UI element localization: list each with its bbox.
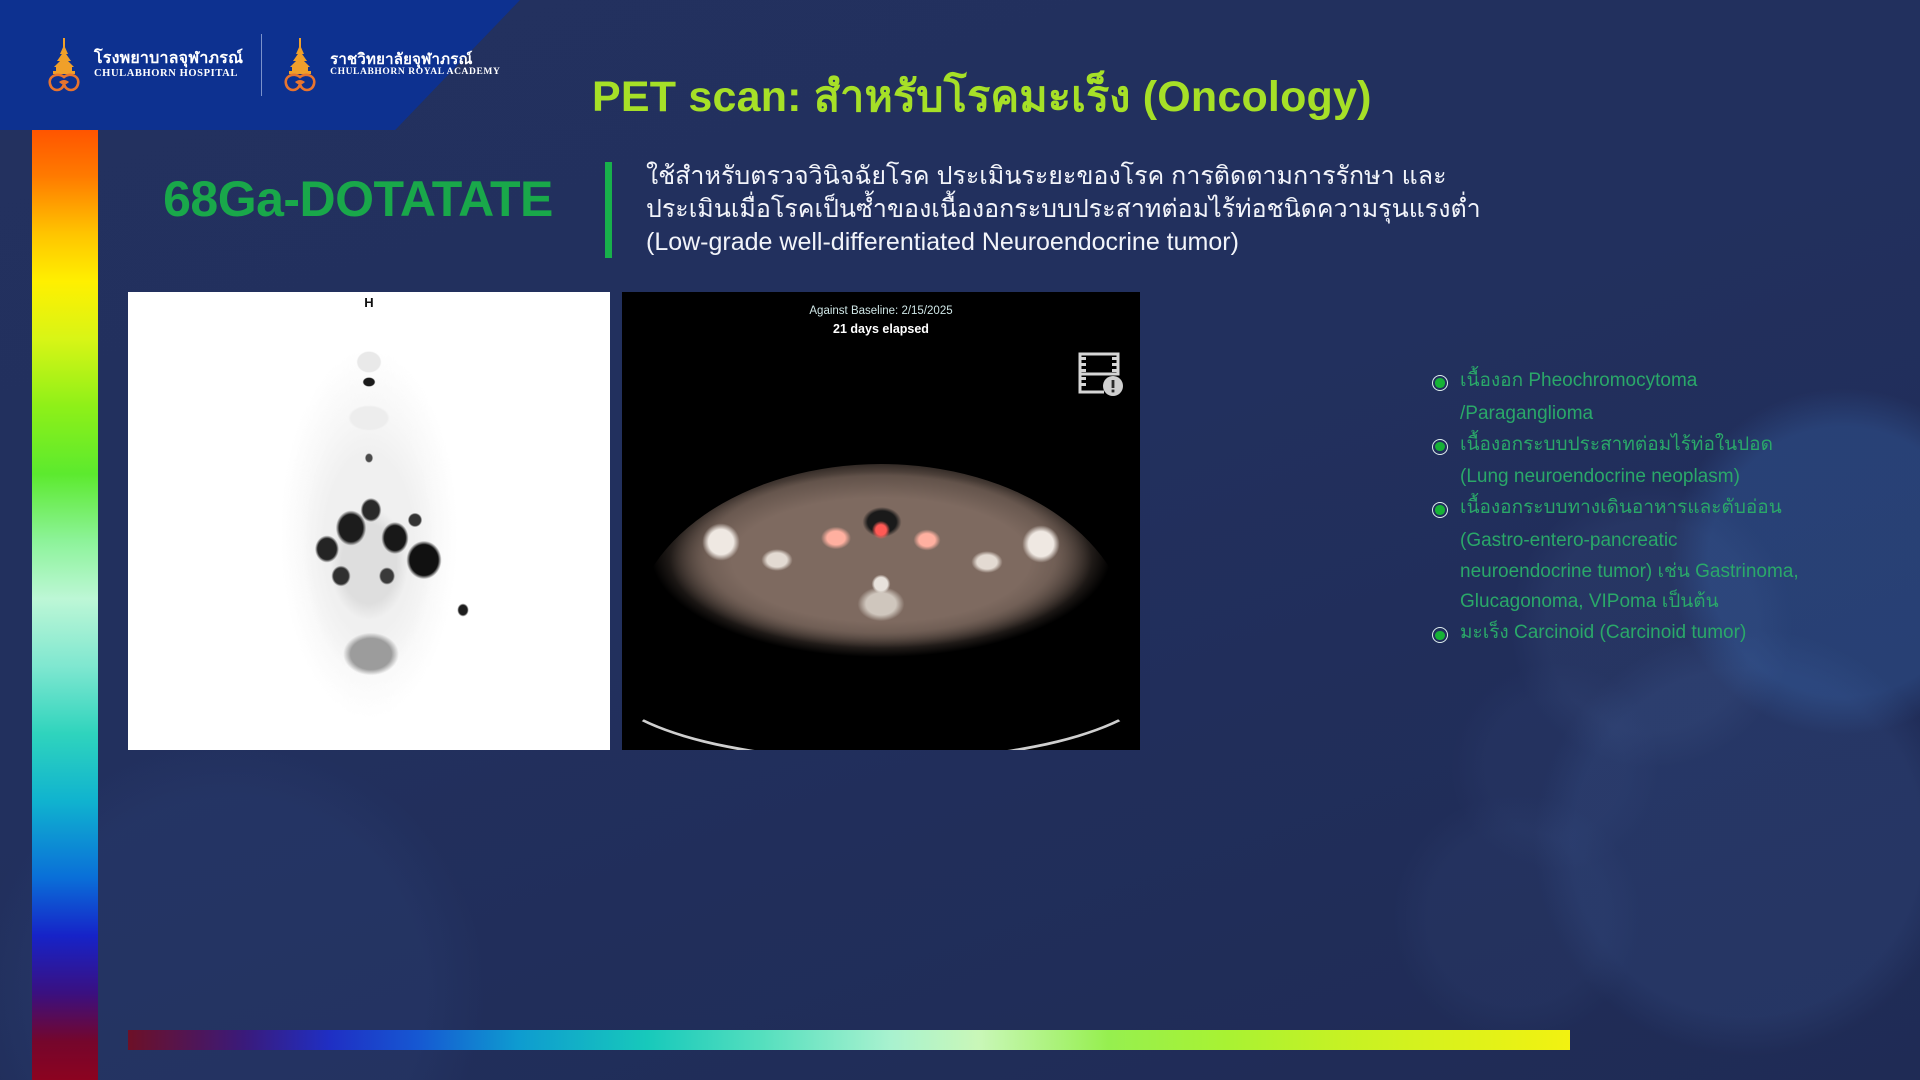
logo-academy-thai: ราชวิทยาลัยจุฬาภรณ์ (330, 52, 500, 68)
logo-academy-english: CHULABHORN ROYAL ACADEMY (330, 68, 500, 78)
list-item-label: เนื้องอก Pheochromocytoma (1460, 366, 1697, 397)
chulabhorn-emblem-icon (44, 36, 84, 94)
ct-baseline-label: Against Baseline: 2/15/2025 (622, 305, 1140, 317)
bullet-target-icon (1432, 627, 1448, 643)
list-item: มะเร็ง Carcinoid (Carcinoid tumor) (1432, 618, 1880, 649)
list-item-continuation: neuroendocrine tumor) เช่น Gastrinoma, (1432, 557, 1880, 588)
ct-header-text: Against Baseline: 2/15/2025 21 days elap… (622, 305, 1140, 336)
list-item-continuation: (Gastro-entero-pancreatic (1432, 526, 1880, 557)
green-vertical-rule (605, 162, 612, 258)
logo-hospital-text: โรงพยาบาลจุฬาภรณ์ CHULABHORN HOSPITAL (94, 51, 243, 79)
slide-canvas: โรงพยาบาลจุฬาภรณ์ CHULABHORN HOSPITAL (0, 0, 1920, 1080)
pet-mip-image: H (128, 292, 610, 750)
list-item: เนื้องอกระบบประสาทต่อมไร้ท่อในปอด (1432, 430, 1880, 461)
logo-chulabhorn-hospital: โรงพยาบาลจุฬาภรณ์ CHULABHORN HOSPITAL (44, 36, 243, 94)
logo-hospital-thai: โรงพยาบาลจุฬาภรณ์ (94, 51, 243, 68)
list-item-label: เนื้องอกระบบทางเดินอาหารและตับอ่อน (1460, 493, 1782, 524)
pet-body-silhouette (219, 314, 519, 744)
bullet-target-icon (1432, 439, 1448, 455)
description-line-1: ใช้สำหรับตรวจวินิจฉัยโรค ประเมินระยะของโ… (646, 160, 1526, 193)
left-spectrum-colorbar (32, 118, 98, 1080)
description-line-3: (Low-grade well-differentiated Neuroendo… (646, 226, 1526, 259)
header-logo-group: โรงพยาบาลจุฬาภรณ์ CHULABHORN HOSPITAL (0, 0, 520, 130)
list-item: เนื้องอก Pheochromocytoma (1432, 366, 1880, 397)
bullet-target-icon (1432, 375, 1448, 391)
tracer-name: 68Ga-DOTATATE (128, 170, 588, 228)
description-line-2: ประเมินเมื่อโรคเป็นซ้ำของเนื้องอกระบบประ… (646, 193, 1526, 226)
indications-list: เนื้องอก Pheochromocytoma /Paraganglioma… (1432, 366, 1880, 651)
list-item-label: มะเร็ง Carcinoid (Carcinoid tumor) (1460, 618, 1746, 649)
logo-academy-text: ราชวิทยาลัยจุฬาภรณ์ CHULABHORN ROYAL ACA… (330, 52, 500, 78)
list-item-continuation: (Lung neuroendocrine neoplasm) (1432, 462, 1880, 493)
bullet-target-icon (1432, 502, 1448, 518)
bottom-spectrum-colorbar (128, 1030, 1570, 1050)
list-item-continuation: /Paraganglioma (1432, 399, 1880, 430)
logo-chulabhorn-royal-academy: ราชวิทยาลัยจุฬาภรณ์ CHULABHORN ROYAL ACA… (280, 36, 500, 94)
pet-orientation-label: H (128, 295, 610, 310)
list-item: เนื้องอกระบบทางเดินอาหารและตับอ่อน (1432, 493, 1880, 524)
ct-elapsed-label: 21 days elapsed (622, 322, 1140, 336)
ct-fused-axial-image: Against Baseline: 2/15/2025 21 days elap… (622, 292, 1140, 750)
logo-hospital-english: CHULABHORN HOSPITAL (94, 68, 243, 79)
description-block: ใช้สำหรับตรวจวินิจฉัยโรค ประเมินระยะของโ… (646, 160, 1526, 259)
list-item-label: เนื้องอกระบบประสาทต่อมไร้ท่อในปอด (1460, 430, 1773, 461)
chulabhorn-emblem-icon-2 (280, 36, 320, 94)
list-item-continuation: Glucagonoma, VIPoma เป็นต้น (1432, 587, 1880, 618)
slide-title: PET scan: สำหรับโรคมะเร็ง (Oncology) (592, 62, 1892, 130)
logo-divider (261, 34, 262, 96)
film-strip-warning-icon[interactable] (1074, 348, 1126, 400)
